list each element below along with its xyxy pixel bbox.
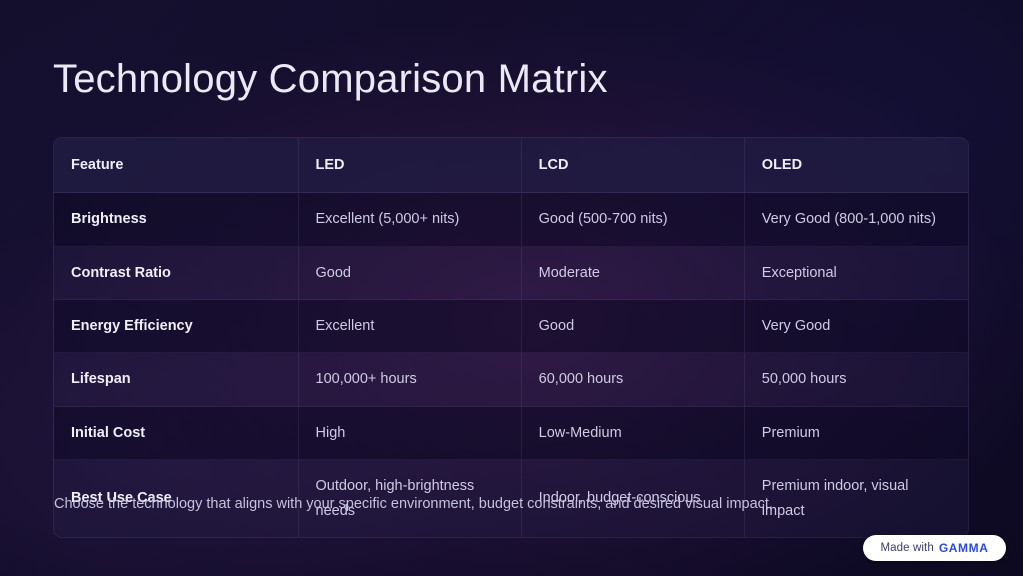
table-row: Contrast Ratio Good Moderate Exceptional	[54, 247, 968, 300]
column-header-feature: Feature	[54, 138, 299, 193]
cell-lifespan-oled: 50,000 hours	[745, 353, 968, 406]
cell-initial-cost-led: High	[299, 407, 522, 460]
footnote-text: Choose the technology that aligns with y…	[54, 494, 773, 516]
technology-comparison-table: Feature LED LCD OLED Brightness Excellen…	[53, 137, 969, 538]
cell-lifespan-lcd: 60,000 hours	[522, 353, 745, 406]
table-header-row: Feature LED LCD OLED	[54, 138, 968, 193]
row-label-contrast-ratio: Contrast Ratio	[54, 247, 299, 300]
page-title: Technology Comparison Matrix	[53, 56, 608, 103]
cell-initial-cost-lcd: Low-Medium	[522, 407, 745, 460]
cell-best-use-case-oled: Premium indoor, visual impact	[745, 460, 968, 537]
table-header: Feature LED LCD OLED	[54, 138, 968, 193]
badge-prefix-label: Made with	[881, 542, 934, 554]
cell-contrast-ratio-lcd: Moderate	[522, 247, 745, 300]
cell-brightness-led: Excellent (5,000+ nits)	[299, 193, 522, 246]
table-row: Lifespan 100,000+ hours 60,000 hours 50,…	[54, 353, 968, 406]
column-header-lcd: LCD	[522, 138, 745, 193]
slide-canvas: Technology Comparison Matrix Feature LED…	[0, 0, 1023, 576]
table-body: Brightness Excellent (5,000+ nits) Good …	[54, 193, 968, 537]
cell-initial-cost-oled: Premium	[745, 407, 968, 460]
cell-contrast-ratio-led: Good	[299, 247, 522, 300]
cell-brightness-lcd: Good (500-700 nits)	[522, 193, 745, 246]
row-label-brightness: Brightness	[54, 193, 299, 246]
column-header-led: LED	[299, 138, 522, 193]
cell-brightness-oled: Very Good (800-1,000 nits)	[745, 193, 968, 246]
table-row: Initial Cost High Low-Medium Premium	[54, 407, 968, 460]
table-row: Energy Efficiency Excellent Good Very Go…	[54, 300, 968, 353]
gamma-wordmark: GAMMA	[939, 541, 989, 555]
made-with-gamma-badge[interactable]: Made with GAMMA	[863, 535, 1006, 561]
cell-energy-efficiency-led: Excellent	[299, 300, 522, 353]
row-label-energy-efficiency: Energy Efficiency	[54, 300, 299, 353]
column-header-oled: OLED	[745, 138, 968, 193]
row-label-lifespan: Lifespan	[54, 353, 299, 406]
table-row: Brightness Excellent (5,000+ nits) Good …	[54, 193, 968, 246]
cell-contrast-ratio-oled: Exceptional	[745, 247, 968, 300]
row-label-initial-cost: Initial Cost	[54, 407, 299, 460]
cell-energy-efficiency-oled: Very Good	[745, 300, 968, 353]
cell-energy-efficiency-lcd: Good	[522, 300, 745, 353]
cell-lifespan-led: 100,000+ hours	[299, 353, 522, 406]
